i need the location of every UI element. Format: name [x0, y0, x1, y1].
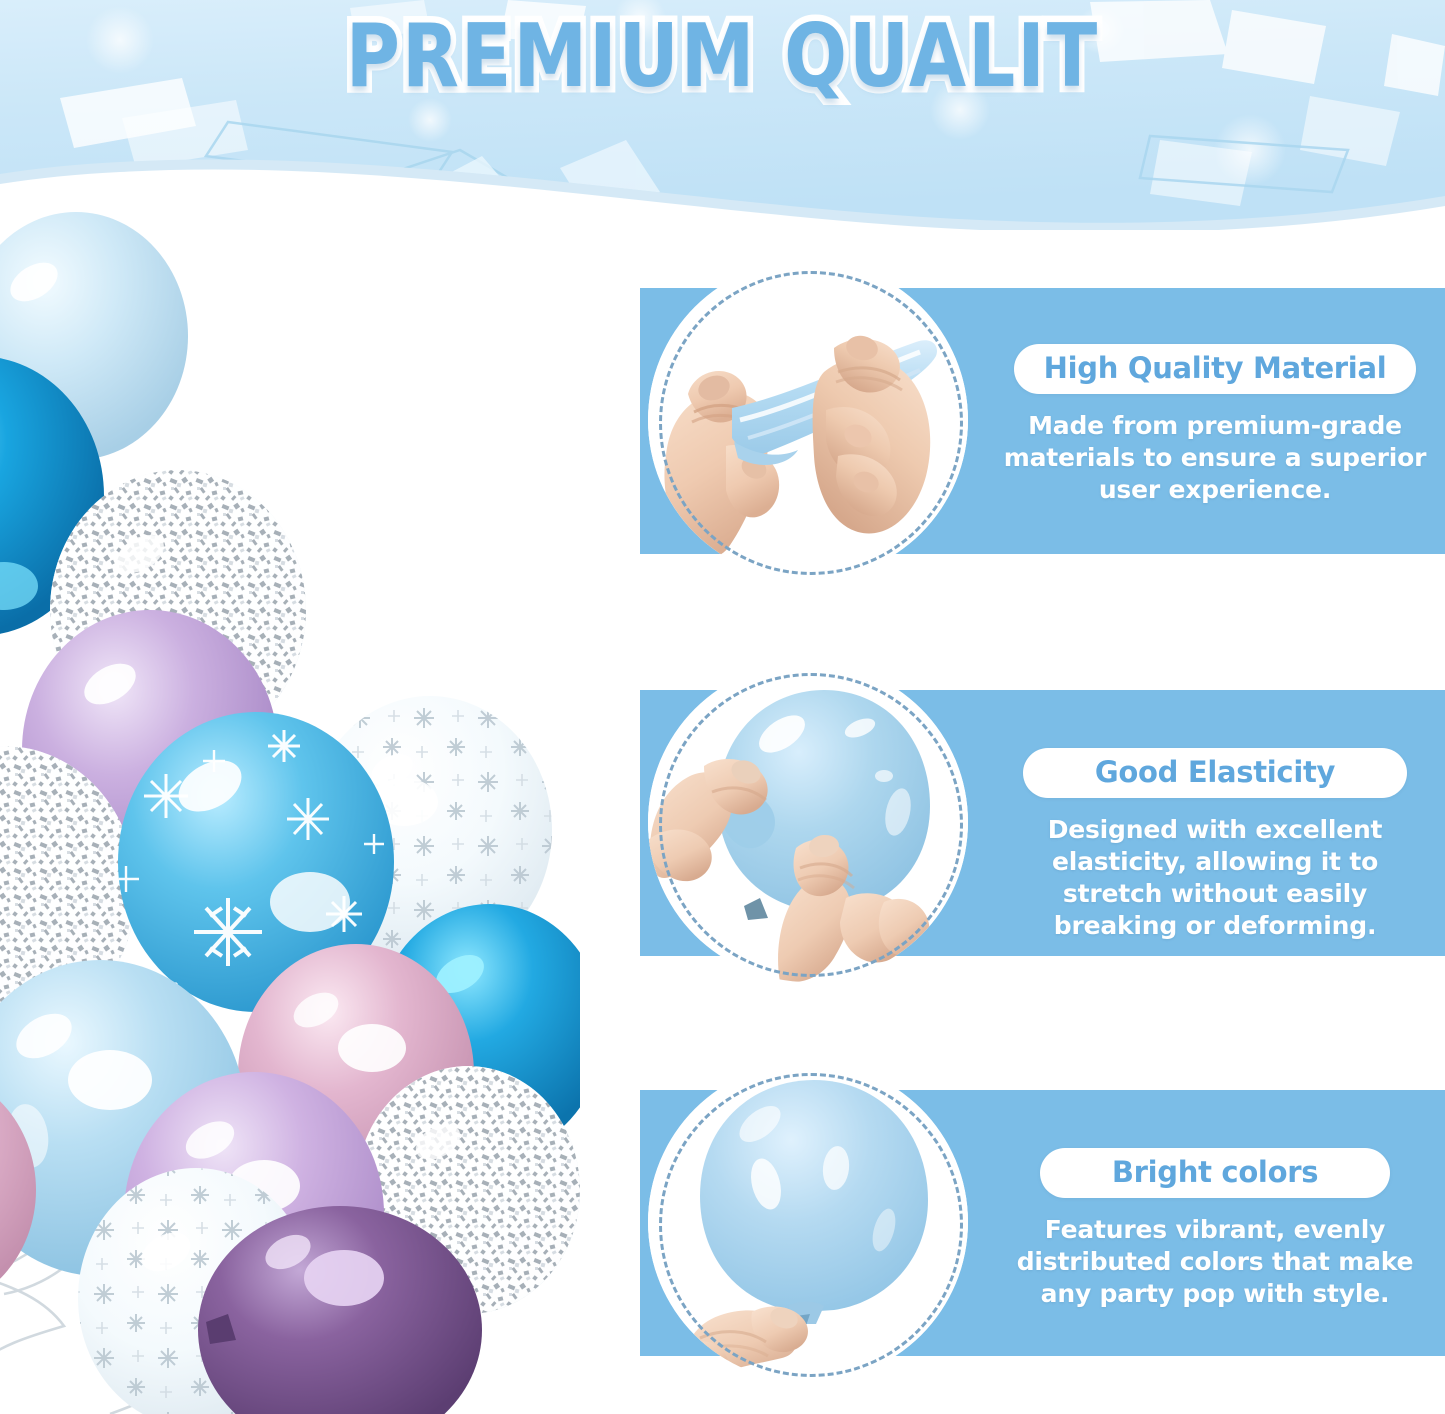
- hands-stretching-blue-balloon-image: [648, 260, 968, 580]
- feature-title-high-quality-material: High Quality Material: [1014, 344, 1417, 394]
- feature-description-high-quality-material: Made from premium-grade materials to ens…: [1000, 410, 1430, 506]
- feature-photo-bright-colors: [648, 1062, 968, 1382]
- feature-block-high-quality-material: High Quality Material Made from premium-…: [1000, 344, 1430, 506]
- page-title: PREMIUM QUALIT: [0, 6, 1445, 107]
- feature-photo-good-elasticity: [648, 662, 968, 982]
- feature-title-good-elasticity: Good Elasticity: [1023, 748, 1407, 798]
- feature-block-bright-colors: Bright colors Features vibrant, evenly d…: [1000, 1148, 1430, 1310]
- feature-photo-high-quality-material: [648, 260, 968, 580]
- hand-holding-balloon-by-knot-image: [648, 1062, 968, 1382]
- hands-squeezing-inflated-balloon-image: [648, 662, 968, 982]
- product-infographic: PREMIUM QUALIT: [0, 0, 1445, 1414]
- feature-description-good-elasticity: Designed with excellent elasticity, allo…: [1000, 814, 1430, 942]
- feature-description-bright-colors: Features vibrant, evenly distributed col…: [1000, 1214, 1430, 1310]
- feature-title-bright-colors: Bright colors: [1040, 1148, 1390, 1198]
- frozen-winter-balloon-bouquet: [0, 190, 580, 1414]
- feature-block-good-elasticity: Good Elasticity Designed with excellent …: [1000, 748, 1430, 942]
